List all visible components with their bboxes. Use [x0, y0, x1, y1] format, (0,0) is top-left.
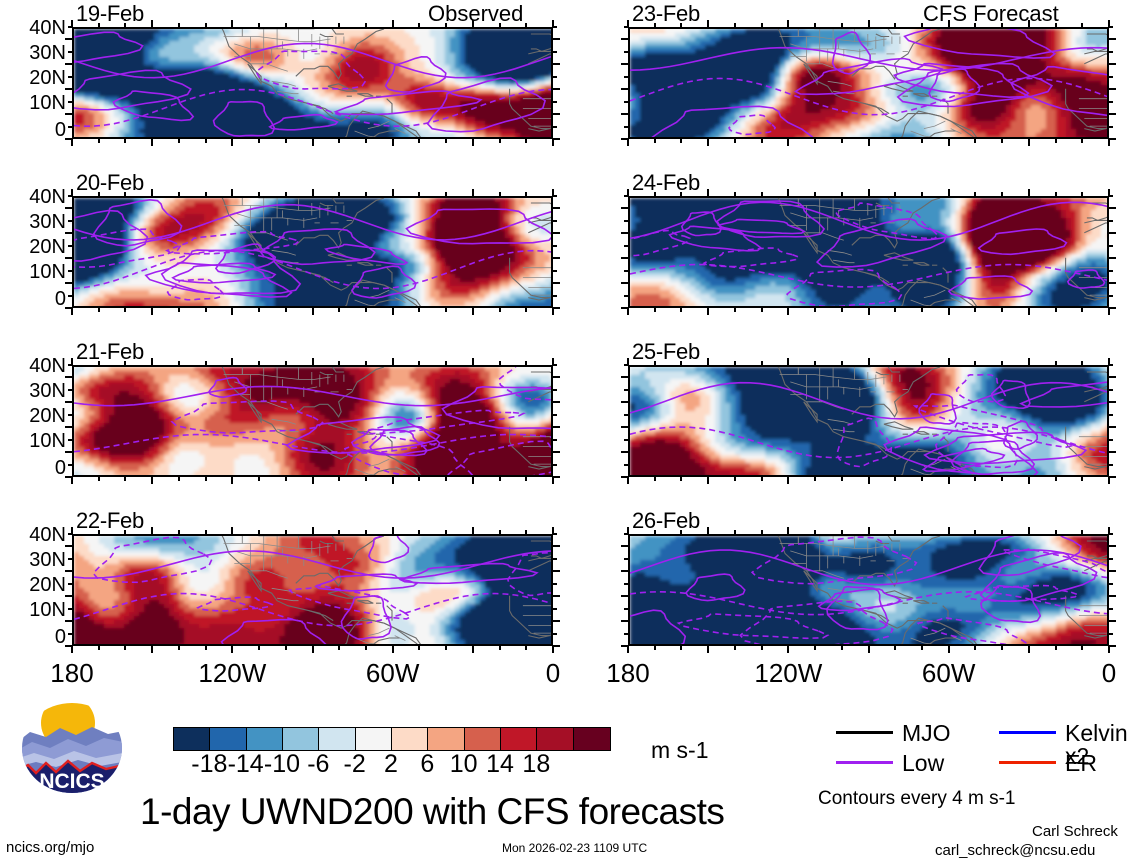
- panel-title-24-feb: 24-Feb: [632, 172, 700, 194]
- y-tick: [65, 645, 72, 647]
- x-tick: [285, 477, 287, 481]
- y-tick: [68, 245, 72, 247]
- x-tick: [680, 23, 682, 27]
- y-ticklabel: 30N: [4, 381, 66, 401]
- y-tick: [1109, 282, 1116, 284]
- shaded-field: [630, 536, 1109, 646]
- x-ticklabel: 180: [32, 660, 112, 686]
- x-tick: [418, 361, 420, 365]
- y-tick: [553, 364, 557, 366]
- x-tick: [814, 139, 816, 143]
- legend-line-low: [836, 761, 893, 764]
- x-tick: [418, 139, 420, 143]
- x-tick: [418, 646, 420, 650]
- x-tick: [178, 646, 180, 650]
- x-tick: [868, 189, 870, 196]
- y-tick: [553, 220, 557, 222]
- x-tick: [418, 477, 420, 481]
- y-tick: [1109, 126, 1113, 128]
- y-tick: [68, 364, 72, 366]
- x-tick: [868, 477, 870, 484]
- y-tick: [65, 207, 72, 209]
- x-tick: [814, 646, 816, 650]
- x-tick: [868, 646, 870, 653]
- column-header-observed: Observed: [428, 3, 523, 25]
- y-tick: [65, 595, 72, 597]
- map-panel[interactable]: [72, 27, 553, 139]
- y-tick: [65, 113, 72, 115]
- y-tick: [553, 232, 560, 234]
- x-tick: [921, 361, 923, 365]
- y-tick: [553, 38, 560, 40]
- colorbar-segment: [537, 728, 573, 750]
- y-ticklabel: 20N: [4, 68, 66, 88]
- y-tick: [553, 376, 560, 378]
- x-tick: [124, 139, 126, 143]
- x-ticklabel: 120W: [192, 660, 272, 686]
- x-tick: [787, 477, 789, 484]
- x-tick: [1028, 477, 1030, 484]
- y-tick: [621, 38, 628, 40]
- y-tick: [624, 101, 628, 103]
- y-tick: [68, 633, 72, 635]
- y-ticklabel: 40N: [4, 18, 66, 38]
- x-tick: [445, 192, 447, 196]
- x-tick: [1055, 192, 1057, 196]
- y-tick: [1109, 220, 1113, 222]
- x-tick: [974, 477, 976, 481]
- x-tick: [734, 192, 736, 196]
- x-tick: [814, 361, 816, 365]
- y-tick: [1109, 545, 1116, 547]
- y-tick: [624, 270, 628, 272]
- y-tick: [624, 389, 628, 391]
- x-tick: [525, 477, 527, 481]
- x-tick: [1108, 139, 1110, 146]
- logo-label: NCICS: [39, 770, 104, 793]
- y-tick: [1109, 389, 1113, 391]
- x-tick: [894, 477, 896, 481]
- map-panel[interactable]: [628, 365, 1109, 477]
- x-tick: [921, 23, 923, 27]
- y-tick: [624, 583, 628, 585]
- y-tick: [621, 570, 628, 572]
- x-tick: [338, 192, 340, 196]
- y-tick: [1109, 376, 1116, 378]
- x-tick: [71, 139, 73, 146]
- x-tick: [312, 20, 314, 27]
- x-tick: [365, 477, 367, 481]
- x-tick: [1081, 23, 1083, 27]
- y-tick: [553, 138, 560, 140]
- x-tick: [761, 646, 763, 650]
- x-tick: [814, 23, 816, 27]
- x-tick: [338, 530, 340, 534]
- y-tick: [624, 608, 628, 610]
- legend-label-low: Low: [902, 752, 944, 775]
- x-tick: [921, 530, 923, 534]
- x-tick: [1028, 139, 1030, 146]
- x-tick: [499, 192, 501, 196]
- x-tick: [338, 308, 340, 312]
- shaded-field: [74, 536, 553, 646]
- x-tick: [472, 477, 474, 484]
- x-tick: [98, 477, 100, 481]
- y-tick: [553, 608, 557, 610]
- x-tick: [312, 189, 314, 196]
- y-tick: [553, 533, 557, 535]
- y-tick: [1109, 113, 1116, 115]
- x-tick: [680, 530, 682, 534]
- x-tick: [124, 308, 126, 312]
- y-tick: [553, 126, 557, 128]
- x-tick: [124, 192, 126, 196]
- y-tick: [1109, 245, 1113, 247]
- x-tick: [71, 646, 73, 653]
- x-tick: [654, 646, 656, 650]
- x-tick: [312, 477, 314, 484]
- y-tick: [621, 545, 628, 547]
- colorbar-segment: [283, 728, 319, 750]
- x-tick: [1028, 646, 1030, 653]
- y-tick: [553, 282, 560, 284]
- x-tick: [418, 308, 420, 312]
- x-tick: [392, 139, 394, 146]
- y-tick: [1109, 426, 1116, 428]
- y-tick: [1109, 63, 1116, 65]
- x-tick: [707, 646, 709, 653]
- x-tick: [1055, 361, 1057, 365]
- x-tick: [365, 530, 367, 534]
- x-tick: [1028, 527, 1030, 534]
- x-tick: [761, 477, 763, 481]
- x-tick: [787, 139, 789, 146]
- y-tick: [553, 76, 557, 78]
- x-tick: [98, 530, 100, 534]
- y-tick: [624, 558, 628, 560]
- y-tick: [65, 38, 72, 40]
- x-ticklabel: 0: [1069, 660, 1135, 686]
- y-tick: [624, 464, 628, 466]
- x-tick: [205, 530, 207, 534]
- y-tick: [621, 401, 628, 403]
- x-tick: [707, 139, 709, 146]
- x-tick: [231, 189, 233, 196]
- y-tick: [624, 126, 628, 128]
- x-tick: [1001, 139, 1003, 143]
- x-tick: [841, 646, 843, 650]
- x-tick: [868, 20, 870, 27]
- y-tick: [624, 51, 628, 53]
- x-tick: [1001, 530, 1003, 534]
- shaded-field: [630, 29, 1109, 139]
- y-tick: [65, 88, 72, 90]
- x-tick: [499, 361, 501, 365]
- x-tick: [1108, 477, 1110, 484]
- x-tick: [392, 646, 394, 653]
- y-tick: [1109, 451, 1116, 453]
- y-ticklabel: 10N: [4, 93, 66, 113]
- x-tick: [151, 358, 153, 365]
- x-tick: [151, 308, 153, 315]
- y-tick: [68, 51, 72, 53]
- panel-title-19-feb: 19-Feb: [76, 3, 144, 25]
- x-tick: [472, 646, 474, 653]
- x-tick: [552, 139, 554, 146]
- y-tick: [621, 232, 628, 234]
- y-tick: [68, 295, 72, 297]
- x-tick: [151, 189, 153, 196]
- x-tick: [312, 646, 314, 653]
- y-tick: [68, 439, 72, 441]
- x-tick: [445, 530, 447, 534]
- y-tick: [624, 220, 628, 222]
- colorbar-segment: [428, 728, 464, 750]
- y-tick: [1109, 570, 1116, 572]
- x-tick: [787, 20, 789, 27]
- y-tick: [553, 451, 560, 453]
- x-tick: [98, 308, 100, 312]
- panel-title-23-feb: 23-Feb: [632, 3, 700, 25]
- y-tick: [68, 76, 72, 78]
- y-tick: [553, 645, 560, 647]
- x-tick: [392, 527, 394, 534]
- x-tick: [1001, 192, 1003, 196]
- colorbar-segment: [574, 728, 610, 750]
- shaded-field: [630, 198, 1109, 308]
- x-tick: [921, 192, 923, 196]
- x-ticklabel: 0: [513, 660, 593, 686]
- legend-label-er: ER: [1065, 752, 1097, 775]
- y-tick: [553, 583, 557, 585]
- x-tick: [205, 308, 207, 312]
- x-tick: [98, 192, 100, 196]
- x-tick: [151, 477, 153, 484]
- x-tick: [894, 646, 896, 650]
- x-tick: [654, 139, 656, 143]
- x-tick: [761, 361, 763, 365]
- y-tick: [1109, 38, 1116, 40]
- y-tick: [65, 620, 72, 622]
- y-tick: [553, 63, 560, 65]
- y-tick: [65, 401, 72, 403]
- x-tick: [365, 23, 367, 27]
- x-tick: [654, 361, 656, 365]
- x-tick: [285, 139, 287, 143]
- x-tick: [1081, 308, 1083, 312]
- x-tick: [948, 20, 950, 27]
- y-tick: [621, 376, 628, 378]
- x-tick: [627, 646, 629, 653]
- y-tick: [65, 307, 72, 309]
- x-tick: [734, 361, 736, 365]
- y-tick: [553, 439, 557, 441]
- x-tick: [707, 477, 709, 484]
- y-tick: [1109, 464, 1113, 466]
- map-panel[interactable]: [628, 534, 1109, 646]
- x-tick: [499, 139, 501, 143]
- x-tick: [654, 23, 656, 27]
- x-ticklabel: 60W: [909, 660, 989, 686]
- x-tick: [948, 358, 950, 365]
- x-ticklabel: 120W: [748, 660, 828, 686]
- x-tick: [894, 139, 896, 143]
- x-tick: [178, 530, 180, 534]
- x-tick: [499, 646, 501, 650]
- x-tick: [285, 361, 287, 365]
- y-tick: [553, 26, 557, 28]
- x-tick: [338, 361, 340, 365]
- x-tick: [151, 139, 153, 146]
- ncics-logo[interactable]: NCICS: [16, 703, 128, 793]
- y-tick: [621, 88, 628, 90]
- x-tick: [761, 23, 763, 27]
- x-tick: [178, 308, 180, 312]
- x-tick: [761, 192, 763, 196]
- y-tick: [1109, 414, 1113, 416]
- y-tick: [553, 245, 557, 247]
- y-ticklabel: 0: [4, 120, 66, 140]
- y-tick: [553, 295, 557, 297]
- x-tick: [525, 646, 527, 650]
- y-tick: [1109, 583, 1113, 585]
- x-tick: [627, 139, 629, 146]
- colorbar[interactable]: [173, 727, 611, 751]
- map-panel[interactable]: [628, 196, 1109, 308]
- x-tick: [98, 646, 100, 650]
- x-ticklabel: 180: [588, 660, 668, 686]
- x-tick: [841, 139, 843, 143]
- map-panel[interactable]: [628, 27, 1109, 139]
- site-url[interactable]: ncics.org/mjo: [6, 840, 94, 855]
- y-tick: [553, 307, 560, 309]
- y-ticklabel: 20N: [4, 575, 66, 595]
- colorbar-ticklabel: 18: [511, 752, 561, 777]
- y-ticklabel: 0: [4, 627, 66, 647]
- y-tick: [1109, 232, 1116, 234]
- x-tick: [1001, 23, 1003, 27]
- x-tick: [654, 530, 656, 534]
- x-tick: [814, 192, 816, 196]
- x-tick: [948, 189, 950, 196]
- x-tick: [1081, 192, 1083, 196]
- x-tick: [285, 308, 287, 312]
- y-tick: [621, 476, 628, 478]
- y-tick: [553, 270, 557, 272]
- y-tick: [65, 282, 72, 284]
- x-tick: [258, 139, 260, 143]
- x-tick: [418, 192, 420, 196]
- x-tick: [205, 139, 207, 143]
- panel-title-22-feb: 22-Feb: [76, 510, 144, 532]
- x-tick: [445, 477, 447, 481]
- panel-title-21-feb: 21-Feb: [76, 341, 144, 363]
- x-tick: [231, 139, 233, 146]
- x-tick: [231, 477, 233, 484]
- map-panel[interactable]: [72, 534, 553, 646]
- x-tick: [1028, 189, 1030, 196]
- x-tick: [680, 192, 682, 196]
- x-tick: [894, 530, 896, 534]
- x-tick: [1108, 308, 1110, 315]
- y-tick: [1109, 270, 1113, 272]
- legend-line-kelvin-x2: [999, 731, 1056, 734]
- x-tick: [472, 139, 474, 146]
- x-tick: [627, 477, 629, 484]
- y-tick: [68, 101, 72, 103]
- x-tick: [205, 477, 207, 481]
- x-tick: [921, 477, 923, 481]
- x-tick: [761, 139, 763, 143]
- x-tick: [392, 20, 394, 27]
- map-panel[interactable]: [72, 196, 553, 308]
- x-tick: [258, 308, 260, 312]
- column-header-cfs-forecast: CFS Forecast: [923, 3, 1059, 25]
- y-ticklabel: 0: [4, 458, 66, 478]
- x-tick: [921, 139, 923, 143]
- x-tick: [312, 308, 314, 315]
- x-tick: [71, 477, 73, 484]
- x-tick: [948, 139, 950, 146]
- y-ticklabel: 10N: [4, 262, 66, 282]
- y-tick: [1109, 595, 1116, 597]
- y-tick: [553, 195, 557, 197]
- x-tick: [231, 308, 233, 315]
- y-tick: [621, 426, 628, 428]
- x-tick: [707, 527, 709, 534]
- x-tick: [868, 308, 870, 315]
- y-tick: [553, 113, 560, 115]
- y-tick: [553, 620, 560, 622]
- x-tick: [1001, 477, 1003, 481]
- y-tick: [621, 595, 628, 597]
- x-tick: [178, 361, 180, 365]
- x-tick: [418, 23, 420, 27]
- x-tick: [974, 361, 976, 365]
- x-tick: [178, 477, 180, 481]
- contour-interval-note: Contours every 4 m s-1: [818, 789, 1015, 808]
- x-tick: [1108, 646, 1110, 653]
- x-tick: [124, 530, 126, 534]
- colorbar-segment: [247, 728, 283, 750]
- y-tick: [624, 295, 628, 297]
- colorbar-segment: [392, 728, 428, 750]
- x-tick: [814, 530, 816, 534]
- y-tick: [65, 426, 72, 428]
- x-tick: [499, 23, 501, 27]
- x-tick: [499, 530, 501, 534]
- x-tick: [1081, 361, 1083, 365]
- x-tick: [787, 527, 789, 534]
- x-tick: [472, 527, 474, 534]
- x-tick: [525, 308, 527, 312]
- y-tick: [68, 195, 72, 197]
- x-tick: [841, 23, 843, 27]
- x-tick: [472, 20, 474, 27]
- author-email[interactable]: carl_schreck@ncsu.edu: [935, 843, 1095, 858]
- y-ticklabel: 40N: [4, 356, 66, 376]
- panel-title-25-feb: 25-Feb: [632, 341, 700, 363]
- y-tick: [621, 207, 628, 209]
- y-tick: [68, 464, 72, 466]
- x-tick: [71, 308, 73, 315]
- x-tick: [525, 530, 527, 534]
- map-panel[interactable]: [72, 365, 553, 477]
- y-tick: [553, 476, 560, 478]
- y-tick: [553, 464, 557, 466]
- legend-line-mjo: [836, 731, 893, 734]
- y-tick: [68, 533, 72, 535]
